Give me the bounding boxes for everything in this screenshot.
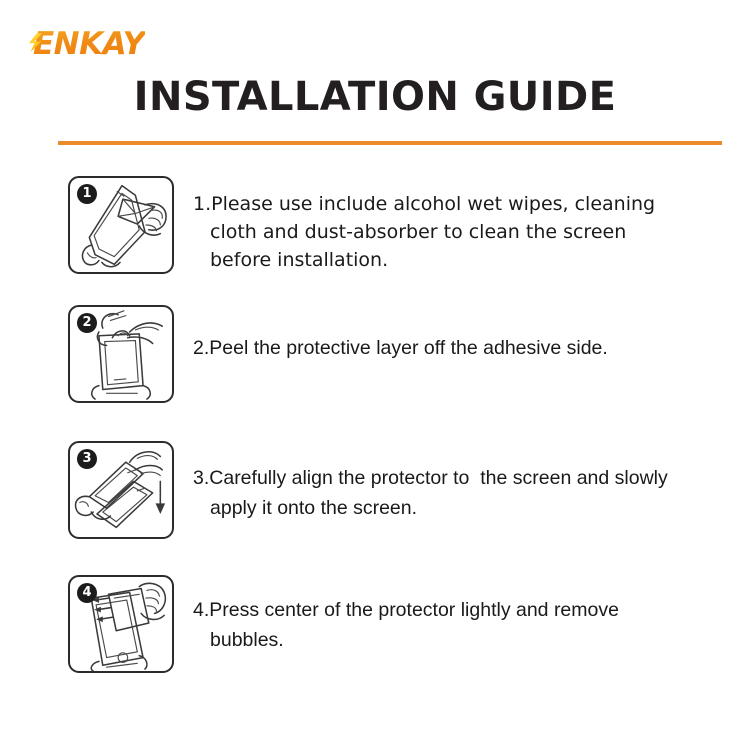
step-number-badge: 1 [77,184,97,204]
step-text-line: 1.Please use include alcohol wet wipes, … [193,190,710,218]
align-protector-illustration: 3 [68,441,174,539]
step-item: 3 [0,441,750,575]
step-text: 2.Peel the protective layer off the adhe… [174,305,750,362]
phone-wipe-cleaning-illustration: 1 [68,176,174,274]
step-text: 3.Carefully align the protector to the s… [174,441,750,523]
step-item: 2 [0,305,750,441]
step-number-badge: 3 [77,449,97,469]
header-divider [58,141,722,145]
brand-logo: ENKAY [33,27,145,61]
step-text: 1.Please use include alcohol wet wipes, … [174,176,750,274]
press-center-remove-bubbles-illustration: 4 [68,575,174,673]
step-text-line: 2.Peel the protective layer off the adhe… [193,335,710,362]
step-number-badge: 4 [77,583,97,603]
brand-wordmark: ENKAY [33,27,145,61]
steps-list: 1 [0,176,750,685]
step-item: 1 [0,176,750,305]
step-text-line: before installation. [193,246,710,274]
step-number-badge: 2 [77,313,97,333]
step-text-line: cloth and dust-absorber to clean the scr… [193,218,710,246]
page-title: INSTALLATION GUIDE [0,74,750,120]
peel-protective-layer-illustration: 2 [68,305,174,403]
step-text-line: 4.Press center of the protector lightly … [193,595,710,625]
step-text: 4.Press center of the protector lightly … [174,575,750,655]
step-text-line: bubbles. [193,625,710,655]
step-item: 4 [0,575,750,685]
step-text-line: apply it onto the screen. [193,493,710,523]
step-text-line: 3.Carefully align the protector to the s… [193,463,710,493]
installation-guide-page: ENKAY INSTALLATION GUIDE 1 [0,0,750,750]
